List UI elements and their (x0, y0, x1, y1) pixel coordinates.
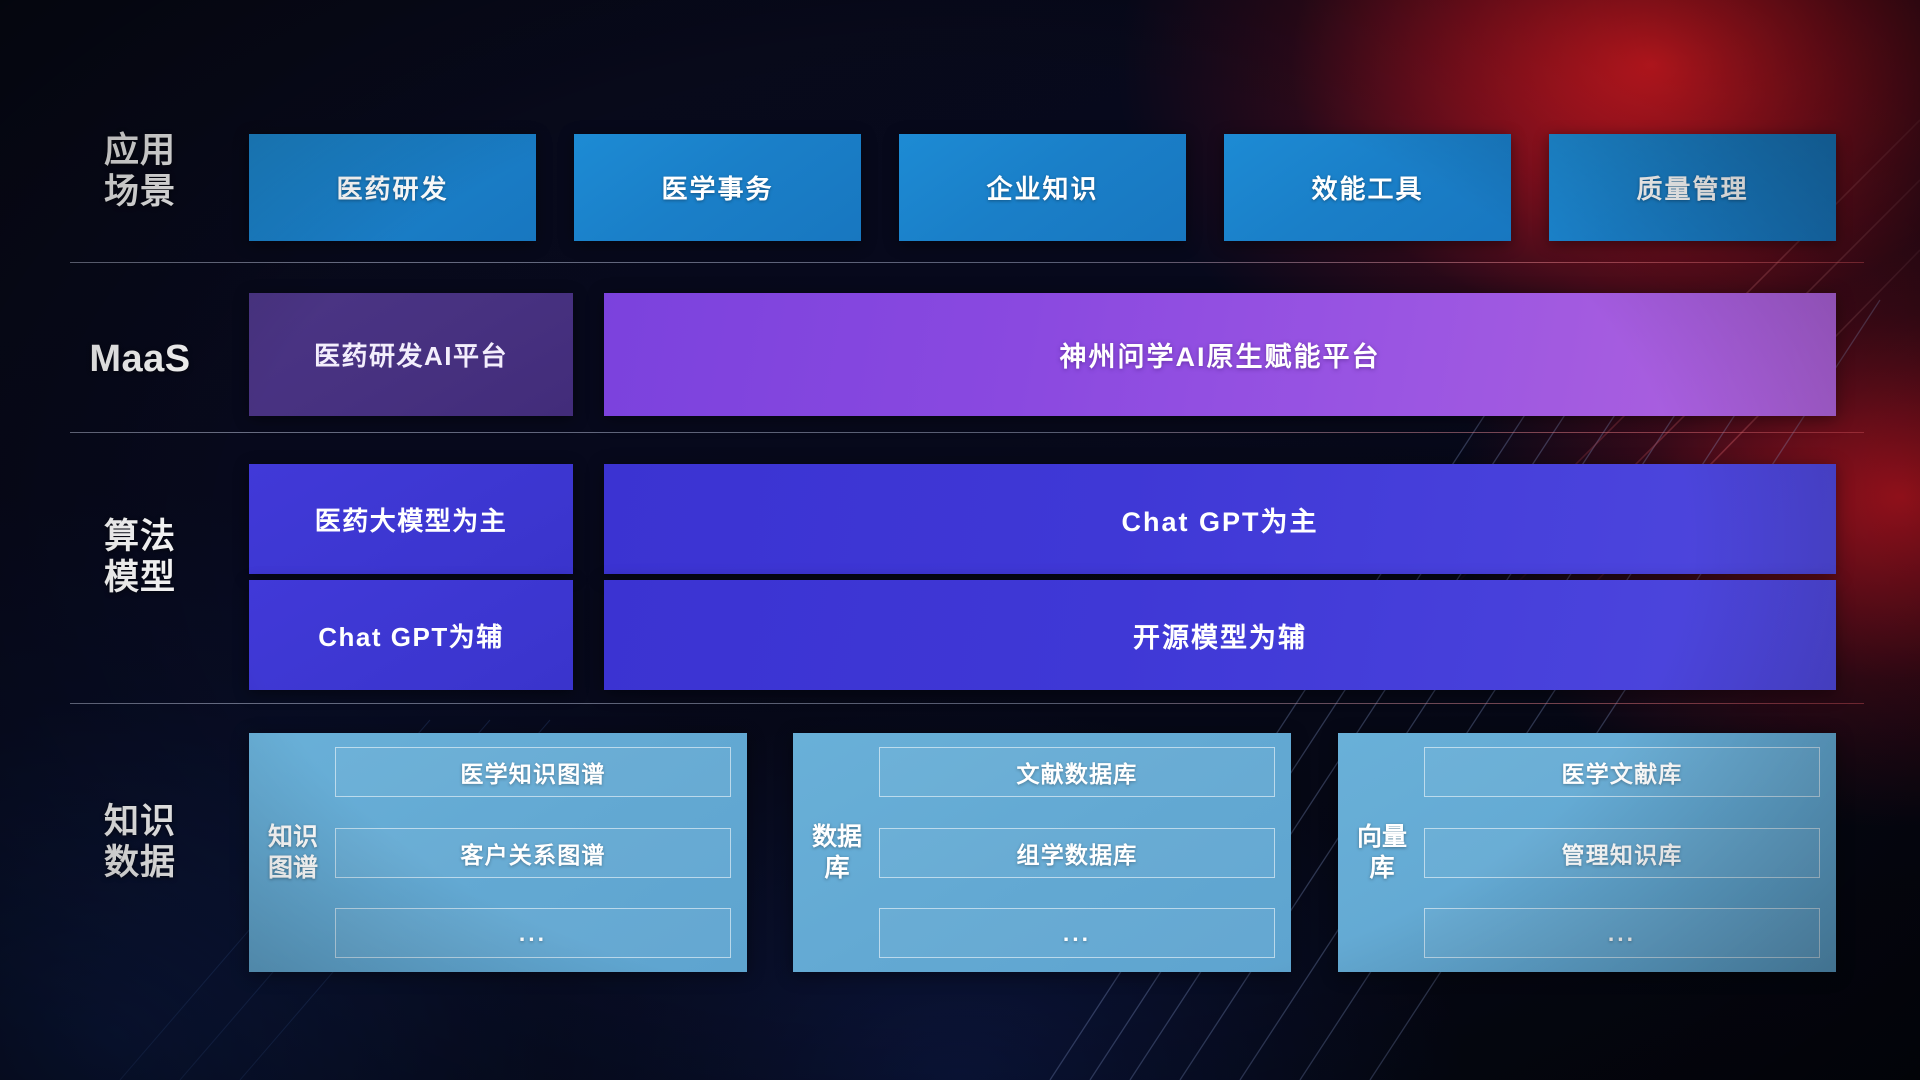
knowledge-panel-1-item-2[interactable]: 客户关系图谱 (335, 828, 731, 878)
row-separator-1 (70, 262, 1864, 263)
knowledge-panel-2-item-1[interactable]: 文献数据库 (879, 747, 1275, 797)
row-label-knowledge-line1: 知识 (70, 802, 210, 843)
app-box-4[interactable]: 效能工具 (1224, 134, 1511, 241)
knowledge-panel-2[interactable]: 数据库 文献数据库 组学数据库 ... (793, 733, 1291, 972)
row-label-knowledge: 知识 数据 (70, 802, 210, 883)
knowledge-panel-2-item-3[interactable]: ... (879, 908, 1275, 958)
algo-right-box-1[interactable]: Chat GPT为主 (604, 464, 1836, 574)
row-separator-3 (70, 703, 1864, 704)
algo-right-label-1: Chat GPT为主 (1121, 500, 1318, 539)
algo-left-box-2[interactable]: Chat GPT为辅 (249, 580, 573, 690)
row-label-application-line2: 场景 (70, 172, 210, 213)
knowledge-panel-3-item-2[interactable]: 管理知识库 (1424, 828, 1820, 878)
knowledge-panel-1-items: 医学知识图谱 客户关系图谱 ... (335, 747, 731, 958)
row-label-maas-text: MaaS (70, 337, 210, 381)
row-label-algorithm-line1: 算法 (70, 517, 210, 558)
app-box-2-label: 医学事务 (661, 169, 773, 206)
algo-left-box-1[interactable]: 医药大模型为主 (249, 464, 573, 574)
app-box-1[interactable]: 医药研发 (249, 134, 536, 241)
knowledge-panel-1[interactable]: 知识图谱 医学知识图谱 客户关系图谱 ... (249, 733, 747, 972)
knowledge-panel-2-title: 数据库 (809, 747, 865, 958)
knowledge-panel-3-title: 向量库 (1354, 747, 1410, 958)
app-box-3-label: 企业知识 (986, 169, 1098, 206)
row-separator-2 (70, 432, 1864, 433)
algo-left-label-2: Chat GPT为辅 (318, 617, 503, 654)
row-label-algorithm-line2: 模型 (70, 558, 210, 599)
row-label-knowledge-line2: 数据 (70, 843, 210, 884)
algo-right-label-2: 开源模型为辅 (1133, 616, 1307, 655)
maas-left-box[interactable]: 医药研发AI平台 (249, 293, 573, 416)
row-label-maas: MaaS (70, 337, 210, 381)
row-label-algorithm: 算法 模型 (70, 517, 210, 598)
app-box-4-label: 效能工具 (1311, 169, 1423, 206)
knowledge-panel-3[interactable]: 向量库 医学文献库 管理知识库 ... (1338, 733, 1836, 972)
algo-right-box-2[interactable]: 开源模型为辅 (604, 580, 1836, 690)
algo-left-label-1: 医药大模型为主 (315, 501, 508, 538)
knowledge-panel-1-title: 知识图谱 (265, 747, 321, 958)
knowledge-panel-3-item-1[interactable]: 医学文献库 (1424, 747, 1820, 797)
app-box-5[interactable]: 质量管理 (1549, 134, 1836, 241)
knowledge-panel-3-items: 医学文献库 管理知识库 ... (1424, 747, 1820, 958)
row-label-application: 应用 场景 (70, 131, 210, 212)
row-label-application-line1: 应用 (70, 131, 210, 172)
maas-right-label: 神州问学AI原生赋能平台 (1060, 335, 1381, 374)
knowledge-panel-2-item-2[interactable]: 组学数据库 (879, 828, 1275, 878)
app-box-3[interactable]: 企业知识 (899, 134, 1186, 241)
app-box-5-label: 质量管理 (1636, 169, 1748, 206)
maas-left-label: 医药研发AI平台 (314, 336, 508, 373)
app-box-1-label: 医药研发 (336, 169, 448, 206)
app-box-2[interactable]: 医学事务 (574, 134, 861, 241)
knowledge-panel-3-item-3[interactable]: ... (1424, 908, 1820, 958)
knowledge-panel-2-items: 文献数据库 组学数据库 ... (879, 747, 1275, 958)
knowledge-panel-1-item-1[interactable]: 医学知识图谱 (335, 747, 731, 797)
knowledge-panel-1-item-3[interactable]: ... (335, 908, 731, 958)
maas-right-box[interactable]: 神州问学AI原生赋能平台 (604, 293, 1836, 416)
